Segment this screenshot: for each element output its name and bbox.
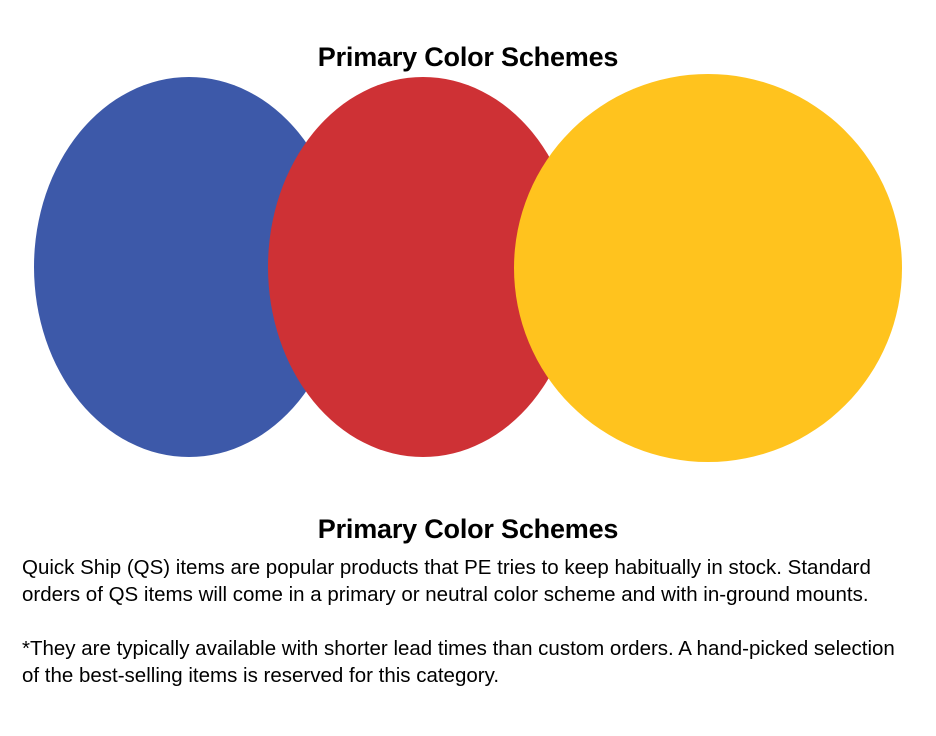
- slide-canvas: Primary Color Schemes Primary Color Sche…: [0, 0, 936, 736]
- body-copy: Quick Ship (QS) items are popular produc…: [22, 554, 912, 689]
- page-title-bottom: Primary Color Schemes: [0, 514, 936, 545]
- body-paragraph: *They are typically available with short…: [22, 635, 912, 689]
- body-paragraph: Quick Ship (QS) items are popular produc…: [22, 554, 912, 608]
- venn-circle-yellow: [514, 74, 902, 462]
- venn-diagram: [0, 0, 936, 480]
